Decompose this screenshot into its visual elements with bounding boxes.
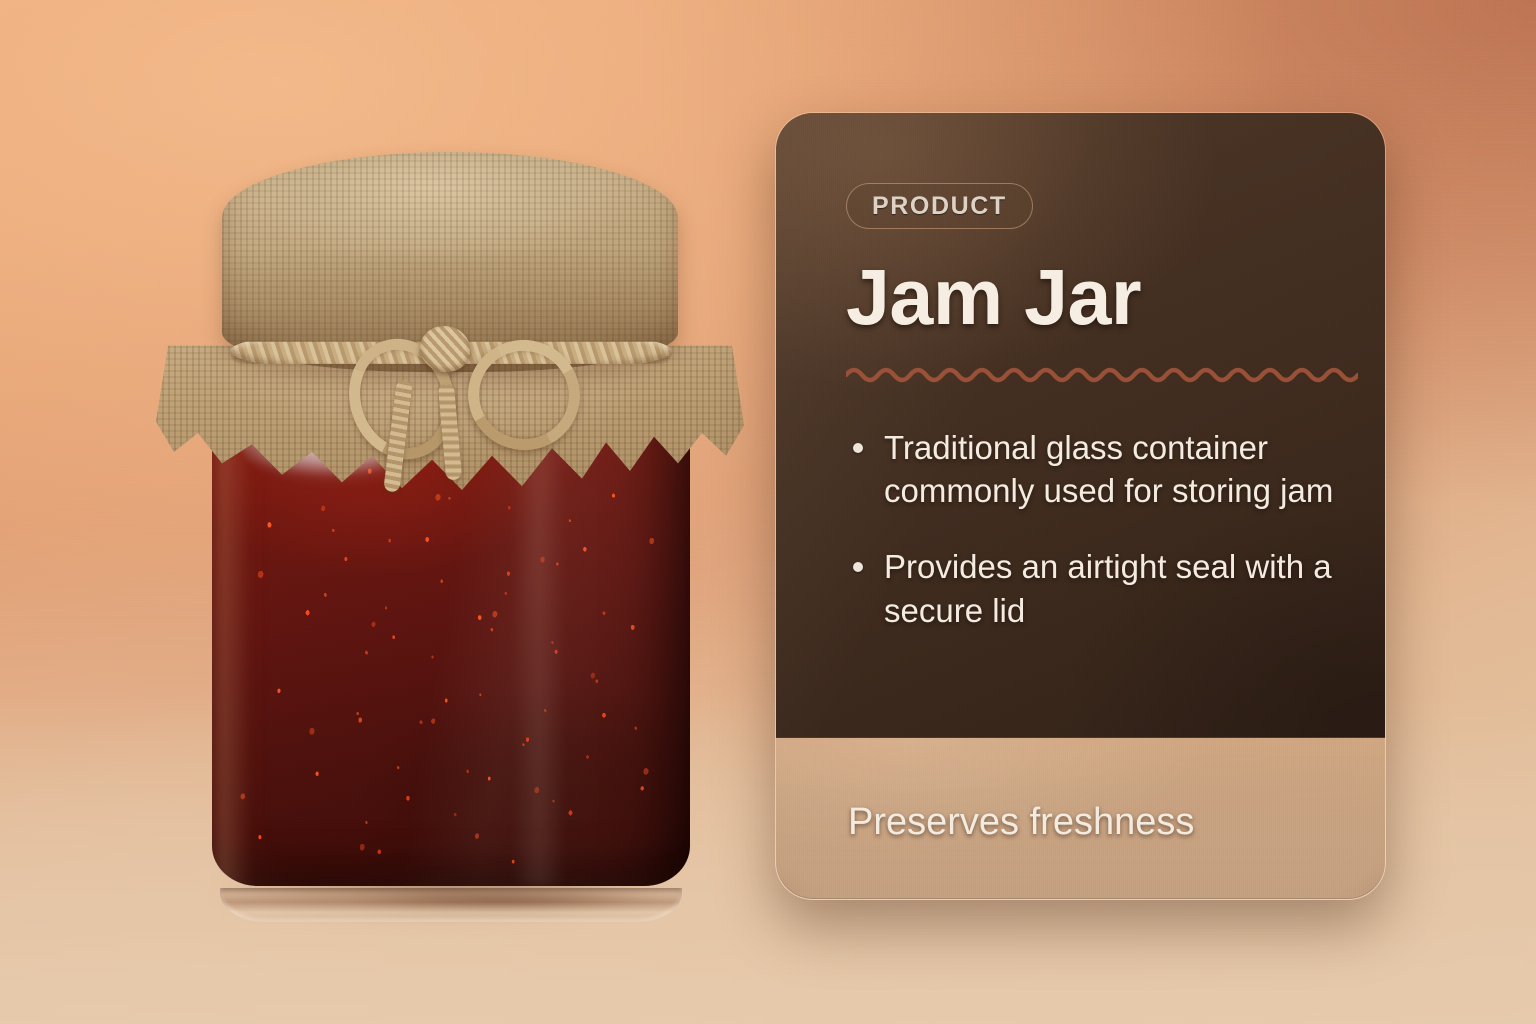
jam-jar-image: [150, 130, 770, 920]
feature-item: Provides an airtight seal with a secure …: [846, 545, 1346, 633]
product-scene: PRODUCT Jam Jar Traditional glass contai…: [0, 0, 1536, 1024]
card-content: PRODUCT Jam Jar Traditional glass contai…: [776, 113, 1385, 899]
twine-knot: [420, 326, 470, 372]
product-info-card: PRODUCT Jam Jar Traditional glass contai…: [775, 112, 1386, 900]
wavy-divider-icon: [846, 364, 1358, 386]
feature-item: Traditional glass container commonly use…: [846, 426, 1346, 514]
jar-base-ring: [220, 888, 682, 922]
product-title: Jam Jar: [846, 257, 1339, 338]
product-footnote: Preserves freshness: [848, 801, 1194, 844]
product-feature-list: Traditional glass container commonly use…: [846, 426, 1346, 634]
product-category-badge: PRODUCT: [846, 183, 1033, 229]
